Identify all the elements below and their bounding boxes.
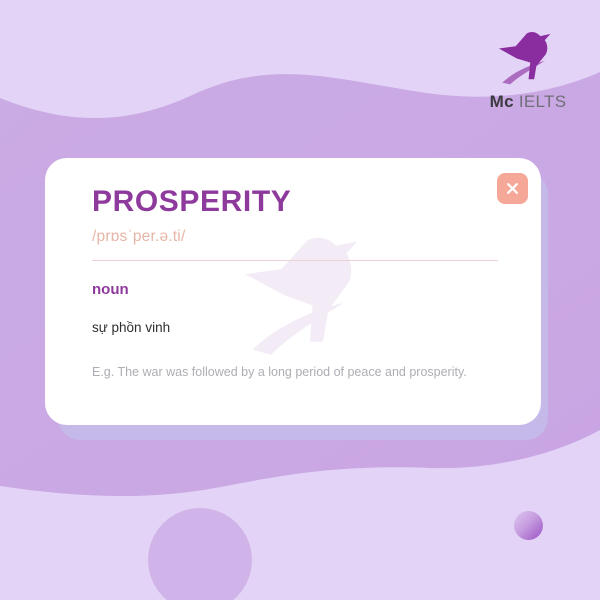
translation-text: sự phồn vinh (92, 320, 501, 335)
example-sentence: E.g. The war was followed by a long peri… (92, 362, 482, 384)
phonetic-transcription: /prɒsˈper.ə.ti/ (92, 228, 501, 246)
slide-canvas: PROSPERITY /prɒsˈper.ə.ti/ noun sự phồn … (0, 0, 600, 600)
close-x-icon (505, 181, 520, 196)
word-title: PROSPERITY (92, 186, 501, 218)
background-circle-bottom (148, 508, 252, 600)
brand-name: Mc IELTS (483, 92, 573, 112)
gradient-sphere-decoration (514, 511, 543, 540)
brand-name-primary: Mc (490, 92, 514, 111)
card-content: PROSPERITY /prɒsˈper.ə.ti/ noun sự phồn … (92, 186, 501, 383)
hummingbird-origami-icon (492, 30, 564, 86)
definition-card: PROSPERITY /prɒsˈper.ə.ti/ noun sự phồn … (45, 158, 541, 425)
brand-name-secondary: IELTS (519, 92, 566, 111)
close-button[interactable] (497, 173, 528, 204)
part-of-speech-label: noun (92, 281, 501, 298)
brand-logo: Mc IELTS (483, 30, 573, 112)
content-divider (92, 260, 498, 261)
